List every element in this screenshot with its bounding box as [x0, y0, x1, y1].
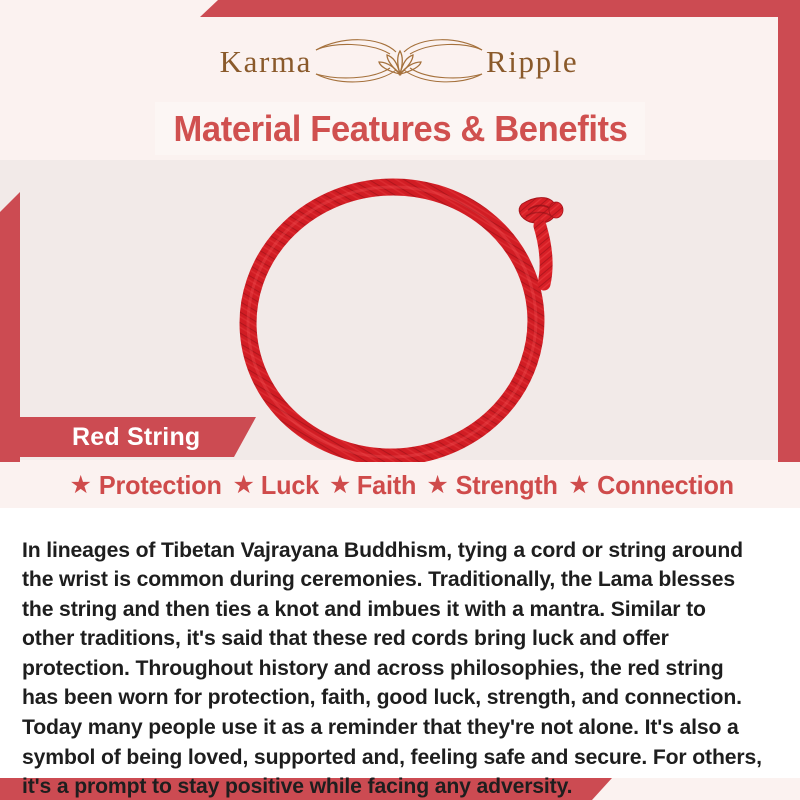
material-ribbon-banner: Red String — [18, 417, 256, 457]
benefit-item: ★ Strength — [420, 470, 559, 501]
page-title: Material Features & Benefits — [173, 108, 627, 150]
material-name-label: Red String — [72, 423, 200, 452]
benefit-label: Protection — [99, 470, 222, 501]
brand-name-left: Karma — [220, 44, 312, 79]
title-band: Material Features & Benefits — [155, 102, 645, 155]
logo-svg: Karma Ripple — [220, 34, 580, 90]
benefit-label: Connection — [598, 470, 735, 501]
benefit-item: ★ Luck — [227, 470, 320, 501]
star-icon: ★ — [70, 473, 92, 498]
star-icon: ★ — [233, 473, 255, 498]
benefit-item: ★ Protection — [64, 470, 224, 501]
benefits-row: ★ Protection ★ Luck ★ Faith ★ Strength ★… — [0, 462, 800, 508]
star-icon: ★ — [329, 473, 351, 498]
star-icon: ★ — [426, 473, 448, 498]
benefit-item: ★ Connection — [562, 470, 736, 501]
benefit-label: Strength — [455, 470, 557, 501]
brand-logo: Karma Ripple — [0, 34, 800, 90]
cord-knot — [519, 198, 563, 224]
top-accent-bar — [200, 0, 800, 17]
benefit-item: ★ Faith — [323, 470, 418, 501]
product-feature-poster: Karma Ripple — [0, 0, 800, 800]
description-panel: In lineages of Tibetan Vajrayana Buddhis… — [0, 508, 800, 778]
star-icon: ★ — [568, 473, 590, 498]
benefit-label: Faith — [357, 470, 416, 501]
product-hero — [0, 160, 800, 460]
description-paragraph: In lineages of Tibetan Vajrayana Buddhis… — [22, 536, 763, 800]
benefit-label: Luck — [261, 470, 319, 501]
brand-name-right: Ripple — [486, 44, 578, 79]
